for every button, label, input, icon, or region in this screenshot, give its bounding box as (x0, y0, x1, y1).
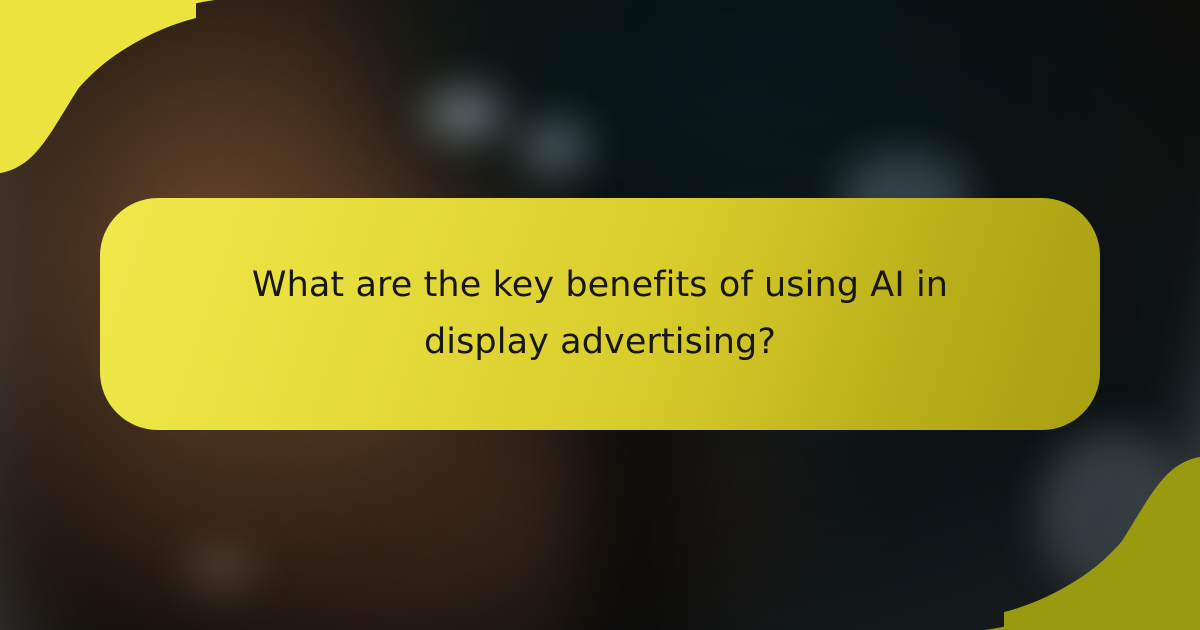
og-image-card: What are the key benefits of using AI in… (0, 0, 1200, 630)
question-text: What are the key benefits of using AI in… (250, 257, 950, 370)
question-card: What are the key benefits of using AI in… (100, 198, 1100, 430)
